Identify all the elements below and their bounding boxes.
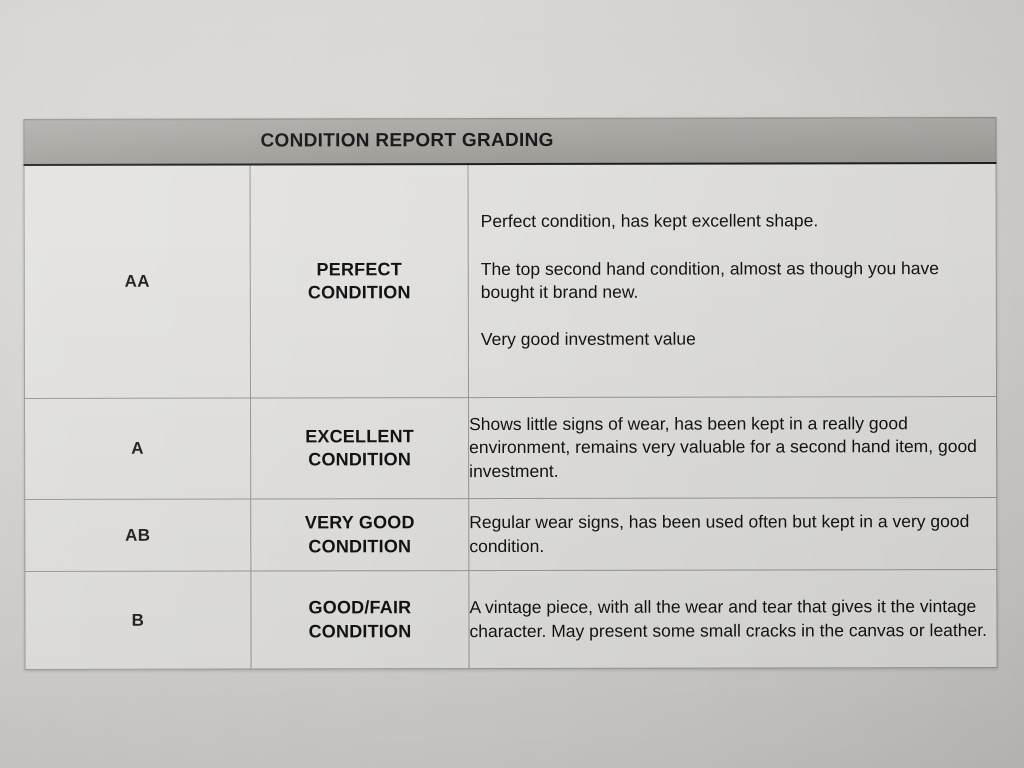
- condition-name-line2: CONDITION: [251, 535, 468, 558]
- description-paragraph: Regular wear signs, has been used often …: [469, 510, 996, 558]
- condition-name-b: GOOD/FAIR CONDITION: [251, 571, 469, 669]
- description-paragraph: Perfect condition, has kept excellent sh…: [481, 209, 982, 233]
- table-row: B GOOD/FAIR CONDITION A vintage piece, w…: [25, 569, 997, 669]
- grade-badge-b: B: [25, 571, 251, 669]
- condition-name-line2: CONDITION: [251, 620, 468, 643]
- description-paragraph: The top second hand condition, almost as…: [481, 257, 982, 305]
- condition-name-aa: PERFECT CONDITION: [250, 164, 468, 398]
- description-paragraph: Shows little signs of wear, has been kep…: [469, 412, 996, 483]
- condition-name-line1: VERY GOOD: [251, 512, 468, 535]
- condition-report-grading-table: CONDITION REPORT GRADING AA PERFECT COND…: [23, 117, 997, 670]
- description-paragraph: A vintage piece, with all the wear and t…: [469, 595, 996, 643]
- condition-name-a: EXCELLENT CONDITION: [251, 398, 469, 499]
- condition-name-line1: EXCELLENT: [251, 425, 468, 448]
- grade-badge-ab: AB: [25, 499, 251, 571]
- photographed-paper-sheet: CONDITION REPORT GRADING AA PERFECT COND…: [0, 0, 1024, 768]
- condition-name-ab: VERY GOOD CONDITION: [251, 499, 469, 571]
- table-header-row: CONDITION REPORT GRADING: [24, 117, 996, 165]
- condition-name-line1: PERFECT: [251, 258, 468, 281]
- table-row: AB VERY GOOD CONDITION Regular wear sign…: [25, 497, 997, 571]
- condition-description-a: Shows little signs of wear, has been kep…: [469, 396, 997, 498]
- condition-description-b: A vintage piece, with all the wear and t…: [469, 569, 997, 668]
- table-row: A EXCELLENT CONDITION Shows little signs…: [25, 396, 997, 499]
- condition-description-aa: Perfect condition, has kept excellent sh…: [468, 163, 997, 398]
- grade-badge-aa: AA: [24, 165, 250, 399]
- page-title: CONDITION REPORT GRADING: [24, 129, 995, 153]
- condition-name-line1: GOOD/FAIR: [251, 597, 468, 620]
- condition-description-ab: Regular wear signs, has been used often …: [469, 497, 997, 570]
- table-body: AA PERFECT CONDITION Perfect condition, …: [24, 163, 997, 670]
- table-header: CONDITION REPORT GRADING: [24, 117, 996, 165]
- grade-badge-a: A: [25, 398, 251, 499]
- table-title-cell: CONDITION REPORT GRADING: [24, 117, 996, 165]
- condition-name-line2: CONDITION: [251, 448, 468, 471]
- condition-name-line2: CONDITION: [251, 281, 468, 304]
- table-row: AA PERFECT CONDITION Perfect condition, …: [24, 163, 997, 399]
- description-paragraph: Very good investment value: [481, 327, 982, 351]
